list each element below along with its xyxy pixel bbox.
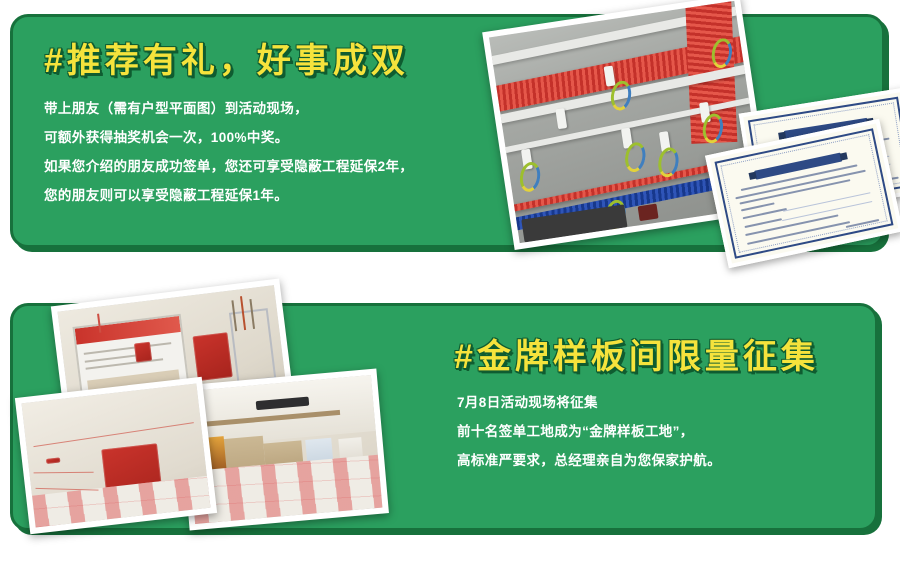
model-site-body-line-2: 前十名签单工地成为“金牌样板工地”， xyxy=(457,417,721,446)
referral-body: 带上朋友（需有户型平面图）到活动现场， 可额外获得抽奖机会一次，100%中奖。 … xyxy=(44,94,413,210)
referral-body-line-1: 带上朋友（需有户型平面图）到活动现场， xyxy=(44,94,413,123)
referral-body-line-4: 您的朋友则可以享受隐蔽工程延保1年。 xyxy=(44,181,413,210)
promo-banner: #推荐有礼，好事成双 带上朋友（需有户型平面图）到活动现场， 可额外获得抽奖机会… xyxy=(0,0,900,568)
model-site-body-line-3: 高标准严要求，总经理亲自为您保家护航。 xyxy=(457,446,721,475)
referral-body-line-3: 如果您介绍的朋友成功签单，您还可享受隐蔽工程延保2年， xyxy=(44,152,413,181)
tool-cabinet xyxy=(192,332,232,382)
model-site-body-line-1: 7月8日活动现场将征集 xyxy=(457,388,721,417)
model-site-headline: #金牌样板间限量征集 xyxy=(454,340,819,374)
referral-body-line-2: 可额外获得抽奖机会一次，100%中奖。 xyxy=(44,123,413,152)
site-object xyxy=(637,204,659,221)
model-site-body: 7月8日活动现场将征集 前十名签单工地成为“金牌样板工地”， 高标准严要求，总经… xyxy=(457,388,721,475)
tool-cabinet-image xyxy=(21,383,210,527)
tool-cabinet-photo xyxy=(15,377,217,534)
board-portrait xyxy=(134,342,153,363)
referral-headline: #推荐有礼，好事成双 xyxy=(44,44,409,78)
